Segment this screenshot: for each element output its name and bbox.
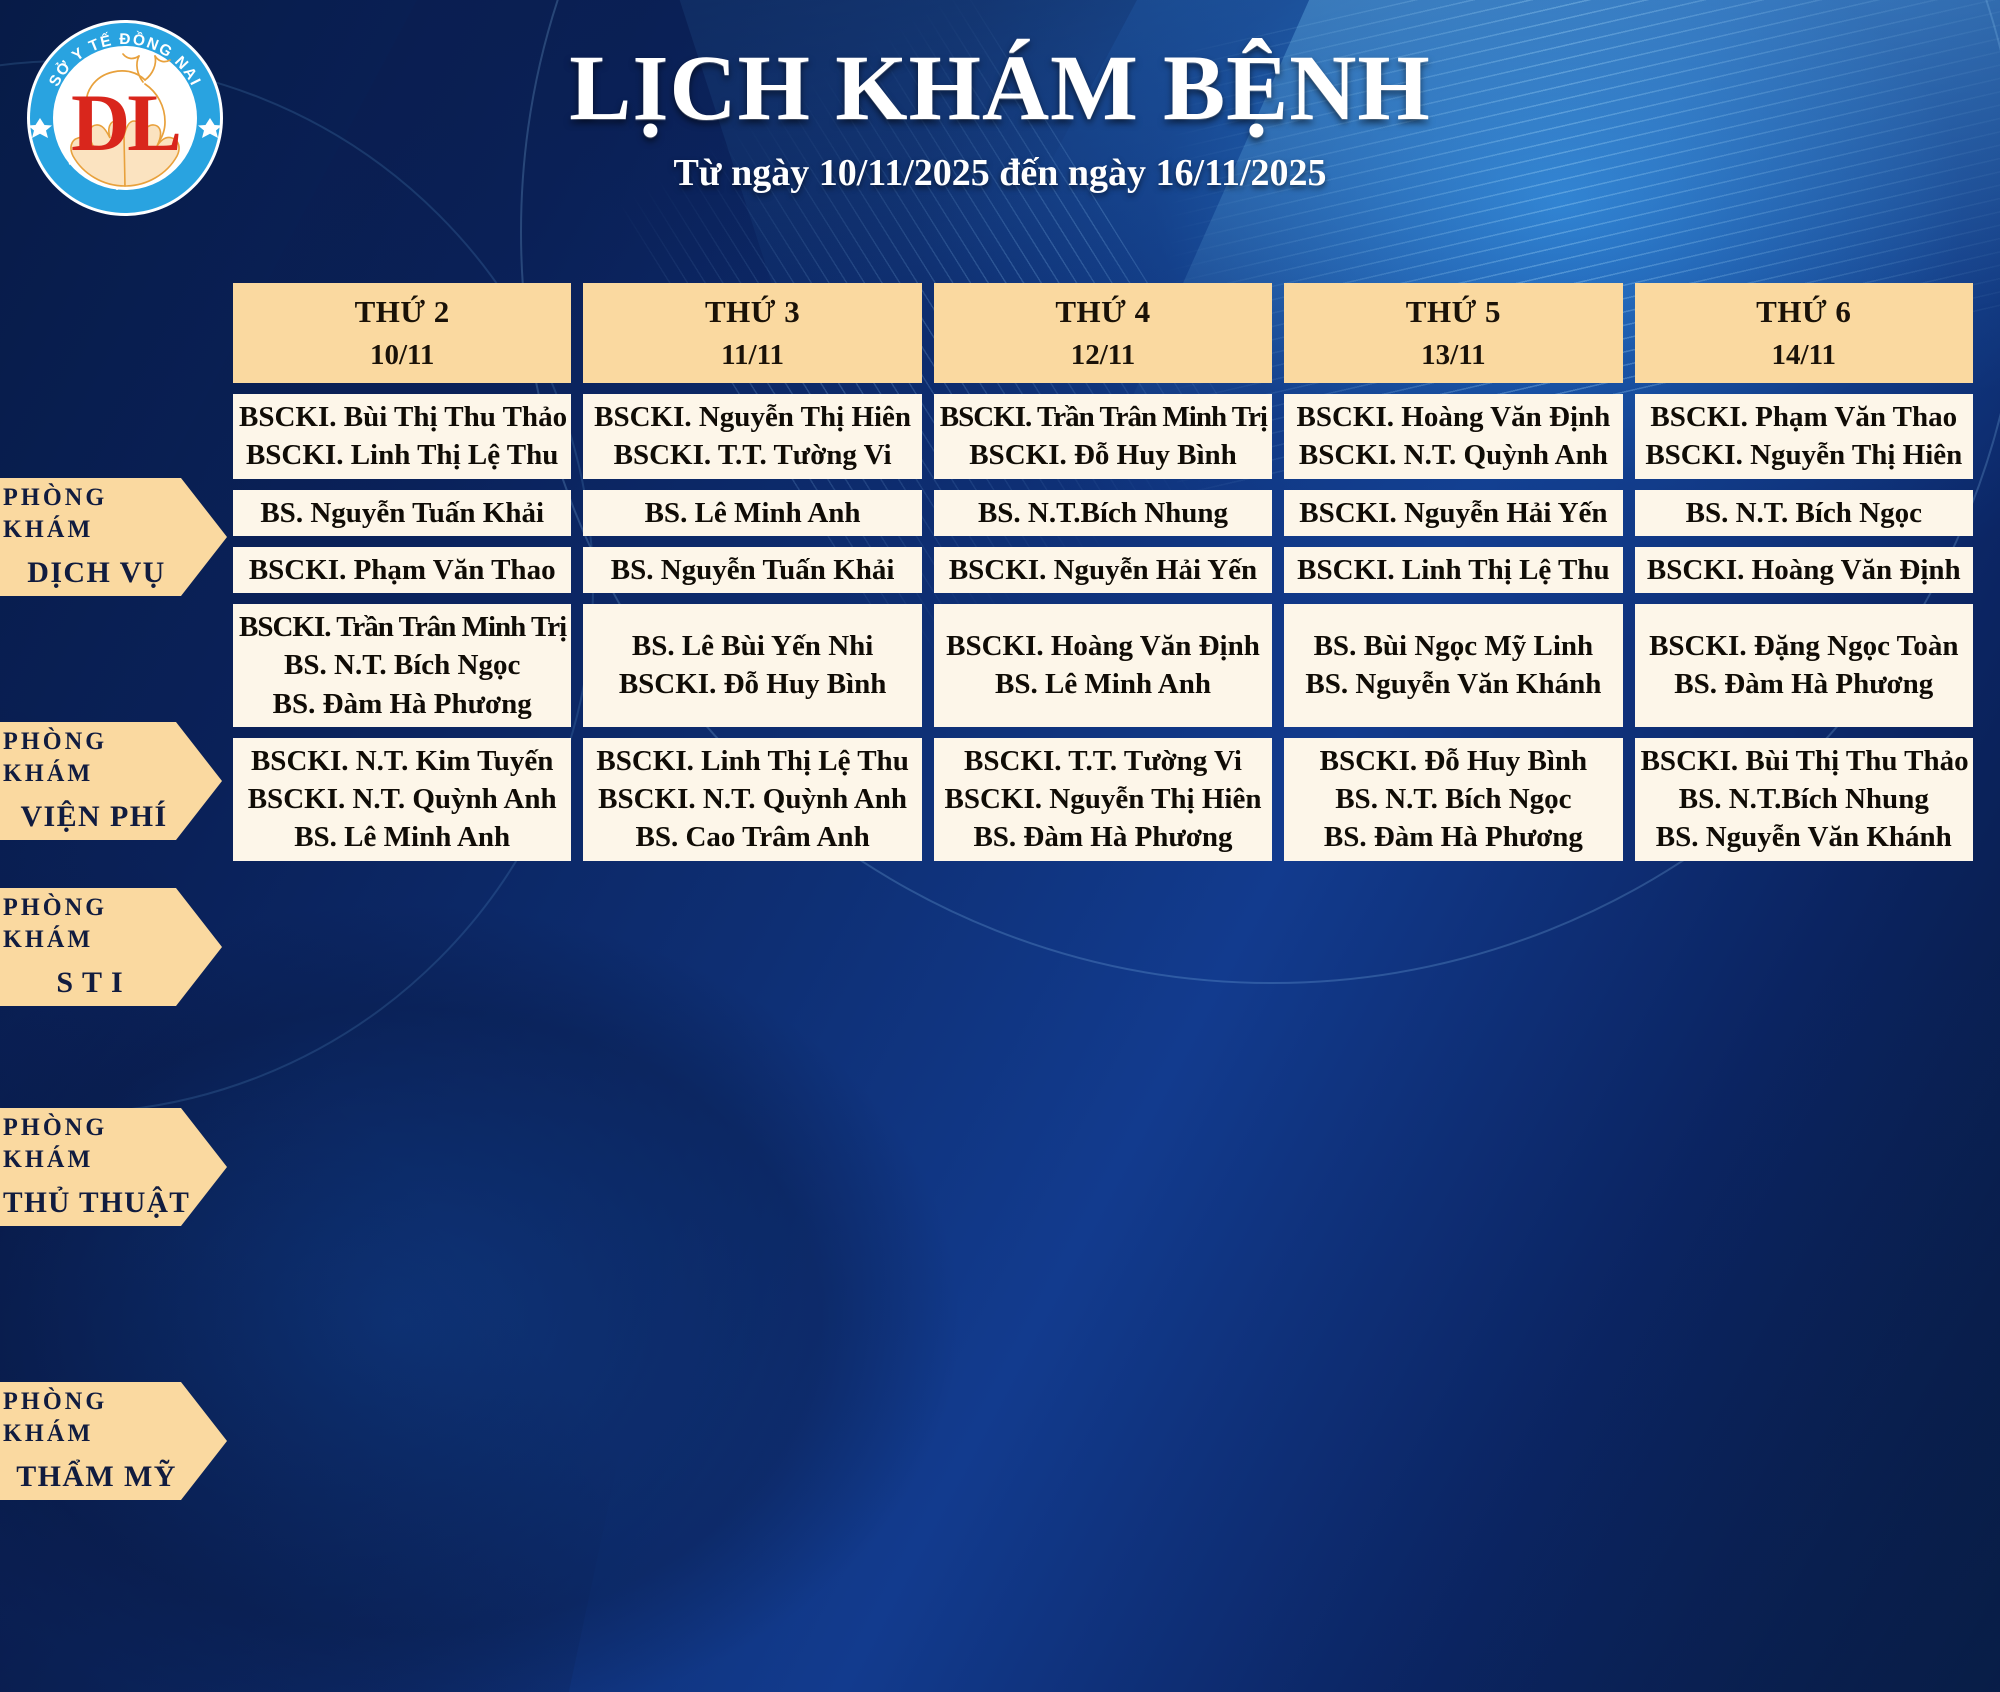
- column-header-day: THỨ 2: [355, 294, 450, 330]
- row-label-line2: DỊCH VỤ: [27, 553, 165, 592]
- column-header-date: 12/11: [1071, 339, 1135, 372]
- date-range-subtitle: Từ ngày 10/11/2025 đến ngày 16/11/2025: [270, 151, 1730, 195]
- doctor-name: BSCKI. Nguyễn Thị Hiên: [589, 398, 915, 436]
- doctor-name: BSCKI. Linh Thị Lệ Thu: [589, 742, 915, 780]
- schedule-cell: BSCKI. Nguyễn Thị HiênBSCKI. T.T. Tường …: [583, 394, 921, 479]
- column-header: THỨ 614/11: [1635, 283, 1973, 383]
- logo-monogram: DL: [71, 77, 179, 168]
- column-header: THỨ 513/11: [1284, 283, 1622, 383]
- schedule-cell: BSCKI. Nguyễn Hải Yến: [934, 547, 1272, 593]
- row-label-line2: THẨM MỸ: [16, 1457, 177, 1496]
- schedule-cell: BSCKI. Đỗ Huy BìnhBS. N.T. Bích NgọcBS. …: [1284, 738, 1622, 861]
- doctor-name: BSCKI. N.T. Quỳnh Anh: [239, 780, 565, 818]
- doctor-name: BS. Nguyễn Tuấn Khải: [239, 494, 565, 532]
- doctor-name: BSCKI. Linh Thị Lệ Thu: [239, 436, 565, 474]
- column-header: THỨ 311/11: [583, 283, 921, 383]
- doctor-name: BS. Nguyễn Văn Khánh: [1290, 665, 1616, 703]
- schedule-cell: BSCKI. Phạm Văn Thao: [233, 547, 571, 593]
- doctor-name: BS. Cao Trâm Anh: [589, 818, 915, 856]
- doctor-name: BSCKI. N.T. Quỳnh Anh: [1290, 436, 1616, 474]
- doctor-name: BSCKI. Trần Trân Minh Trị: [239, 608, 565, 646]
- doctor-name: BSCKI. Hoàng Văn Định: [940, 627, 1266, 665]
- doctor-name: BS. N.T.Bích Nhung: [940, 494, 1266, 532]
- doctor-name: BS. Nguyễn Văn Khánh: [1641, 818, 1967, 856]
- doctor-name: BSCKI. Hoàng Văn Định: [1290, 398, 1616, 436]
- doctor-name: BSCKI. N.T. Kim Tuyến: [239, 742, 565, 780]
- doctor-name: BSCKI. Nguyễn Thị Hiên: [1641, 436, 1967, 474]
- doctor-name: BSCKI. Phạm Văn Thao: [239, 551, 565, 589]
- schedule-cell: BSCKI. Linh Thị Lệ ThuBSCKI. N.T. Quỳnh …: [583, 738, 921, 861]
- doctor-name: BS. Lê Minh Anh: [940, 665, 1266, 703]
- doctor-name: BSCKI. Trần Trân Minh Trị: [940, 398, 1266, 436]
- schedule-table: THỨ 210/11THỨ 311/11THỨ 412/11THỨ 513/11…: [233, 283, 1973, 861]
- schedule-cell: BS. Nguyễn Tuấn Khải: [583, 547, 921, 593]
- schedule-cell: BSCKI. T.T. Tường ViBSCKI. Nguyễn Thị Hi…: [934, 738, 1272, 861]
- column-header-day: THỨ 4: [1055, 294, 1150, 330]
- schedule-cell: BS. Nguyễn Tuấn Khải: [233, 490, 571, 536]
- row-label-line1: PHÒNG KHÁM: [3, 1112, 190, 1175]
- row-label-line2: VIỆN PHÍ: [20, 797, 167, 836]
- schedule-cell: BS. N.T.Bích Nhung: [934, 490, 1272, 536]
- background-sweep-5: [1034, 980, 2000, 1692]
- schedule-cell: BSCKI. Trần Trân Minh TrịBS. N.T. Bích N…: [233, 604, 571, 727]
- schedule-cell: BSCKI. Bùi Thị Thu ThảoBS. N.T.Bích Nhun…: [1635, 738, 1973, 861]
- row-label-tham-my: PHÒNG KHÁM THẨM MỸ: [0, 1382, 227, 1500]
- schedule-cell: BS. Lê Minh Anh: [583, 490, 921, 536]
- row-label-line1: PHÒNG KHÁM: [3, 892, 185, 955]
- row-label-line2: THỦ THUẬT: [3, 1183, 190, 1222]
- column-header: THỨ 210/11: [233, 283, 571, 383]
- doctor-name: BSCKI. Phạm Văn Thao: [1641, 398, 1967, 436]
- row-label-line1: PHÒNG KHÁM: [3, 482, 190, 545]
- schedule-cell: BS. Lê Bùi Yến NhiBSCKI. Đỗ Huy Bình: [583, 604, 921, 727]
- doctor-name: BS. N.T. Bích Ngọc: [1290, 780, 1616, 818]
- row-label-vien-phi: PHÒNG KHÁM VIỆN PHÍ: [0, 722, 222, 840]
- doctor-name: BS. Bùi Ngọc Mỹ Linh: [1290, 627, 1616, 665]
- schedule-cell: BSCKI. Hoàng Văn ĐịnhBSCKI. N.T. Quỳnh A…: [1284, 394, 1622, 479]
- hospital-logo: SỞ Y TẾ ĐỒNG NAI BỆNH VIỆN DA LIỄU: [25, 18, 225, 218]
- schedule-cell: BSCKI. Nguyễn Hải Yến: [1284, 490, 1622, 536]
- doctor-name: BS. Đàm Hà Phương: [1641, 665, 1967, 703]
- schedule-cell: BSCKI. Phạm Văn ThaoBSCKI. Nguyễn Thị Hi…: [1635, 394, 1973, 479]
- doctor-name: BSCKI. Đỗ Huy Bình: [940, 436, 1266, 474]
- row-label-line1: PHÒNG KHÁM: [3, 1386, 190, 1449]
- doctor-name: BSCKI. T.T. Tường Vi: [940, 742, 1266, 780]
- doctor-name: BSCKI. Hoàng Văn Định: [1641, 551, 1967, 589]
- title-block: LỊCH KHÁM BỆNH Từ ngày 10/11/2025 đến ng…: [270, 42, 1730, 195]
- column-header-date: 11/11: [721, 339, 784, 372]
- doctor-name: BS. Lê Bùi Yến Nhi: [589, 627, 915, 665]
- column-header-day: THỨ 3: [705, 294, 800, 330]
- doctor-name: BS. Lê Minh Anh: [589, 494, 915, 532]
- doctor-name: BSCKI. Nguyễn Thị Hiên: [940, 780, 1266, 818]
- doctor-name: BS. Lê Minh Anh: [239, 818, 565, 856]
- column-header-date: 13/11: [1421, 339, 1485, 372]
- doctor-name: BSCKI. Đặng Ngọc Toàn: [1641, 627, 1967, 665]
- schedule-cell: BSCKI. Bùi Thị Thu ThảoBSCKI. Linh Thị L…: [233, 394, 571, 479]
- schedule-cell: BS. N.T. Bích Ngọc: [1635, 490, 1973, 536]
- row-label-line2: STI: [56, 963, 131, 1002]
- schedule-cell: BSCKI. Đặng Ngọc ToànBS. Đàm Hà Phương: [1635, 604, 1973, 727]
- schedule-cell: BSCKI. Linh Thị Lệ Thu: [1284, 547, 1622, 593]
- doctor-name: BSCKI. Bùi Thị Thu Thảo: [239, 398, 565, 436]
- column-header-date: 10/11: [370, 339, 434, 372]
- schedule-cell: BS. Bùi Ngọc Mỹ LinhBS. Nguyễn Văn Khánh: [1284, 604, 1622, 727]
- doctor-name: BSCKI. Đỗ Huy Bình: [1290, 742, 1616, 780]
- doctor-name: BS. N.T. Bích Ngọc: [1641, 494, 1967, 532]
- doctor-name: BS. Đàm Hà Phương: [940, 818, 1266, 856]
- row-label-sti: PHÒNG KHÁM STI: [0, 888, 222, 1006]
- doctor-name: BSCKI. N.T. Quỳnh Anh: [589, 780, 915, 818]
- column-header-day: THỨ 6: [1756, 294, 1851, 330]
- column-header: THỨ 412/11: [934, 283, 1272, 383]
- schedule-poster: SỞ Y TẾ ĐỒNG NAI BỆNH VIỆN DA LIỄU: [0, 0, 2000, 1692]
- page-title: LỊCH KHÁM BỆNH: [270, 42, 1730, 137]
- doctor-name: BS. N.T. Bích Ngọc: [239, 646, 565, 684]
- doctor-name: BSCKI. Đỗ Huy Bình: [589, 665, 915, 703]
- schedule-cell: BSCKI. N.T. Kim TuyếnBSCKI. N.T. Quỳnh A…: [233, 738, 571, 861]
- column-header-date: 14/11: [1772, 339, 1836, 372]
- doctor-name: BS. Đàm Hà Phương: [239, 685, 565, 723]
- doctor-name: BS. N.T.Bích Nhung: [1641, 780, 1967, 818]
- column-header-day: THỨ 5: [1406, 294, 1501, 330]
- doctor-name: BSCKI. T.T. Tường Vi: [589, 436, 915, 474]
- doctor-name: BS. Nguyễn Tuấn Khải: [589, 551, 915, 589]
- schedule-cell: BSCKI. Hoàng Văn ĐịnhBS. Lê Minh Anh: [934, 604, 1272, 727]
- doctor-name: BSCKI. Nguyễn Hải Yến: [940, 551, 1266, 589]
- doctor-name: BSCKI. Linh Thị Lệ Thu: [1290, 551, 1616, 589]
- row-label-line1: PHÒNG KHÁM: [3, 726, 185, 789]
- schedule-cell: BSCKI. Hoàng Văn Định: [1635, 547, 1973, 593]
- schedule-cell: BSCKI. Trần Trân Minh TrịBSCKI. Đỗ Huy B…: [934, 394, 1272, 479]
- row-label-thu-thuat: PHÒNG KHÁM THỦ THUẬT: [0, 1108, 227, 1226]
- row-label-dich-vu: PHÒNG KHÁM DỊCH VỤ: [0, 478, 227, 596]
- doctor-name: BSCKI. Nguyễn Hải Yến: [1290, 494, 1616, 532]
- doctor-name: BSCKI. Bùi Thị Thu Thảo: [1641, 742, 1967, 780]
- doctor-name: BS. Đàm Hà Phương: [1290, 818, 1616, 856]
